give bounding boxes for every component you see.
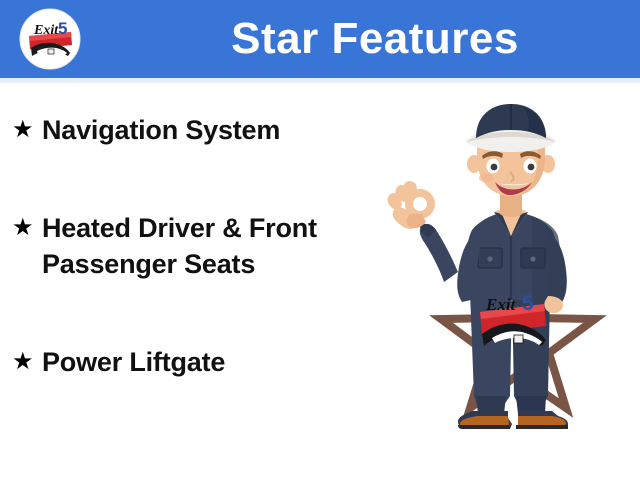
- star-logo-brand-text: Exit: [485, 295, 517, 314]
- star-bullet-icon: ★: [8, 344, 42, 380]
- mechanic-ok-gesture-arm: [387, 181, 480, 302]
- mechanic-head: [466, 104, 556, 196]
- feature-label: Heated Driver & Front Passenger Seats: [42, 210, 388, 282]
- exit5-logo-svg: Exit 5: [19, 8, 81, 70]
- list-item: ★ Power Liftgate: [8, 344, 388, 380]
- feature-list: ★ Navigation System ★ Heated Driver & Fr…: [8, 112, 388, 442]
- ok-hand-icon: [387, 181, 435, 229]
- exit5-logo-icon: Exit 5: [19, 8, 81, 70]
- mechanic-shoes: [458, 411, 568, 429]
- page-title: Star Features: [110, 0, 640, 78]
- star-logo-brand-number: 5: [522, 292, 534, 315]
- mechanic-illustration-svg: Exit 5: [382, 96, 640, 480]
- star-bullet-icon: ★: [8, 112, 42, 148]
- mechanic-illustration: Exit 5: [382, 96, 640, 480]
- feature-label: Navigation System: [42, 112, 388, 148]
- star-bullet-icon: ★: [8, 210, 42, 246]
- logo-brand-number: 5: [58, 19, 67, 38]
- list-item: ★ Navigation System: [8, 112, 388, 148]
- header-divider: [0, 78, 640, 83]
- list-item: ★ Heated Driver & Front Passenger Seats: [8, 210, 388, 282]
- logo-brand-text: Exit: [33, 23, 59, 38]
- feature-label: Power Liftgate: [42, 344, 388, 380]
